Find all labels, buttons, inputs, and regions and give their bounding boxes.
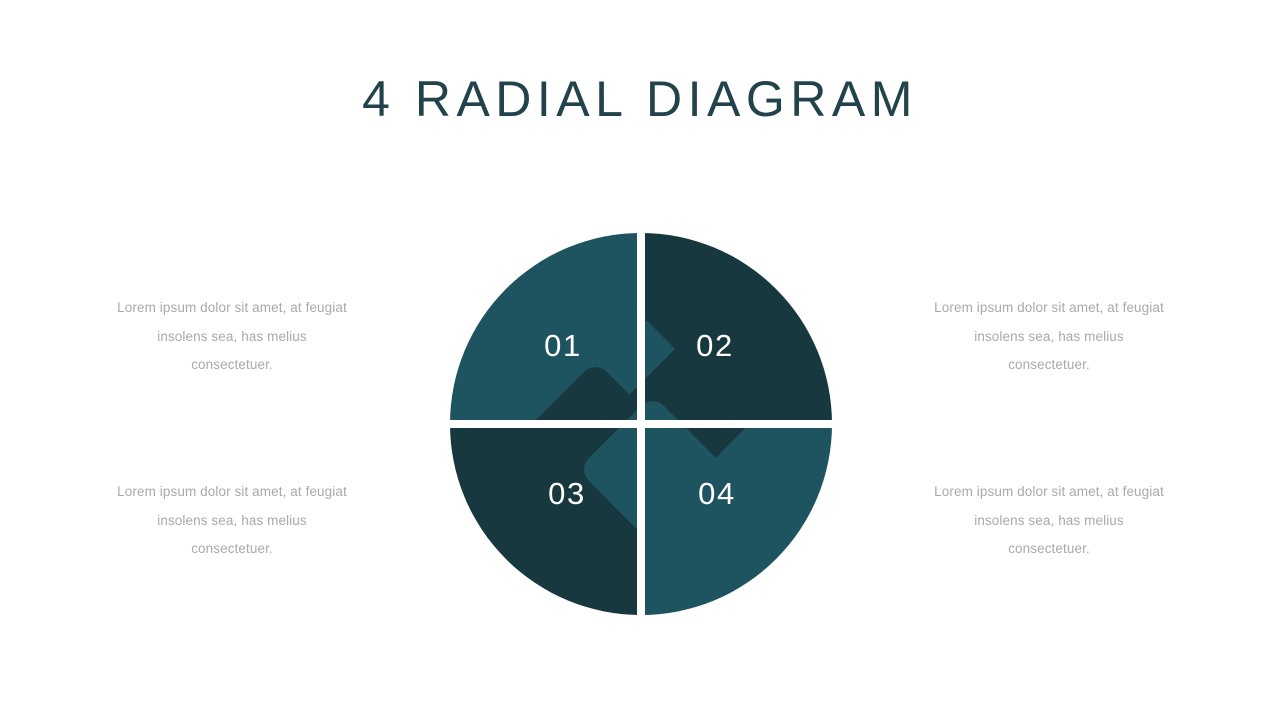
gap-horizontal	[435, 420, 847, 428]
segment-02-number: 02	[696, 328, 734, 363]
segment-03-number: 03	[548, 476, 586, 511]
caption-segment-03: Lorem ipsum dolor sit amet, at feugiat i…	[117, 478, 347, 564]
segment-04-number: 04	[698, 476, 736, 511]
page-title: 4 RADIAL DIAGRAM	[0, 72, 1280, 127]
caption-segment-02: Lorem ipsum dolor sit amet, at feugiat i…	[934, 294, 1164, 380]
radial-diagram: 01 02 03	[441, 222, 841, 626]
slide-canvas: 4 RADIAL DIAGRAM Lorem ipsum dolor sit a…	[0, 0, 1280, 720]
segment-01-number: 01	[544, 328, 582, 363]
caption-segment-04: Lorem ipsum dolor sit amet, at feugiat i…	[934, 478, 1164, 564]
caption-segment-01: Lorem ipsum dolor sit amet, at feugiat i…	[117, 294, 347, 380]
